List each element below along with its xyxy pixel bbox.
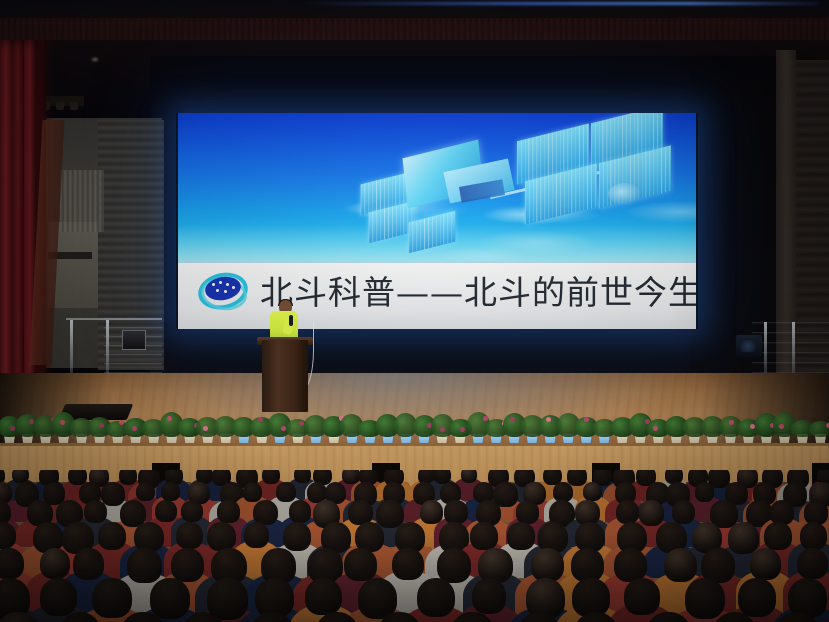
audience-member-head — [583, 482, 602, 501]
audience-member-head — [73, 548, 104, 580]
handheld-microphone — [289, 315, 293, 326]
audience-member-head — [624, 578, 660, 615]
audience-member-head — [119, 470, 137, 485]
audience-member-head — [764, 522, 791, 550]
audience-member-head — [571, 548, 604, 582]
plant-bloom — [826, 423, 829, 428]
rail-post-b — [792, 322, 795, 376]
audience-member-head — [150, 578, 190, 619]
audience-member-head — [344, 548, 376, 581]
slide-title: 北斗科普——北斗的前世今生 — [260, 266, 692, 320]
plant-bloom — [281, 426, 286, 431]
audience-member-head — [217, 500, 239, 523]
band-top-line — [178, 261, 696, 263]
audience-member-head — [770, 500, 794, 525]
audience-member-head — [243, 482, 262, 502]
plant-bloom — [779, 424, 784, 429]
plant-bloom — [60, 420, 65, 425]
satellite-antenna-glow — [608, 183, 642, 205]
audience-member-head — [155, 500, 177, 522]
audience-member-head — [738, 578, 776, 617]
ceiling-light — [92, 58, 98, 61]
audience-member-head — [417, 578, 455, 617]
audience-member-head — [572, 578, 610, 617]
audience-member-head — [800, 522, 827, 550]
logo-star — [219, 281, 222, 284]
audience-member-head — [92, 578, 131, 618]
stage-monitor-right — [736, 335, 762, 357]
audience-member-head — [461, 470, 477, 483]
logo-star — [216, 289, 219, 292]
audience-member-head — [101, 482, 125, 506]
audience-member-head — [84, 500, 107, 523]
stage-monitor-left — [122, 330, 146, 350]
led-screen[interactable]: 北斗科普——北斗的前世今生 — [176, 113, 698, 329]
audience-member-head — [472, 578, 507, 614]
beidou-navigation-logo-icon — [196, 267, 250, 317]
plant-bloom — [167, 416, 172, 421]
plant-bloom — [203, 426, 208, 431]
audience-member-head — [728, 522, 759, 554]
audience-member-head — [283, 522, 311, 551]
audience-member-head — [664, 548, 698, 582]
audience-member-head — [639, 500, 664, 526]
audience-member-head — [244, 522, 270, 548]
audience-member-head — [40, 578, 77, 616]
audience-member-head — [161, 482, 180, 501]
audience-member-head — [567, 470, 586, 486]
audience-member-head — [98, 522, 126, 550]
audience-member-head — [294, 470, 310, 483]
audience-member-head — [750, 548, 781, 580]
audience-member-head — [507, 522, 534, 550]
logo-star — [232, 286, 235, 289]
audience-member-head — [672, 500, 696, 524]
slide-title-band: 北斗科普——北斗的前世今生 — [178, 261, 696, 329]
audience-member-head — [181, 500, 203, 522]
audience-member-head — [470, 522, 498, 550]
plant-bloom — [258, 417, 263, 422]
solar-panel — [409, 211, 456, 254]
audience-member-head — [797, 548, 828, 579]
audience-area — [0, 470, 829, 622]
audience-member-head — [276, 482, 295, 502]
audience-member-head — [616, 500, 639, 524]
audience-member-head — [685, 578, 725, 619]
audience-member-head — [207, 522, 236, 551]
audience-member-head — [127, 548, 161, 583]
podium — [262, 340, 308, 412]
audience-member-head — [437, 548, 471, 583]
audience-member-head — [695, 482, 714, 502]
logo-star — [226, 283, 229, 286]
audience-member-head — [176, 522, 203, 549]
audience-member-head — [305, 578, 342, 615]
stage-front-edge — [0, 443, 829, 446]
ceiling-blue-light-strip — [300, 2, 820, 5]
audience-member-head — [40, 548, 71, 579]
audience-member-head — [171, 548, 204, 582]
audience-member-head — [136, 482, 155, 501]
plant-bloom — [729, 420, 734, 425]
logo-star — [212, 283, 215, 286]
audience-member-head — [444, 500, 467, 524]
wall-vertical-stripes — [60, 170, 104, 232]
auditorium-photo: 北斗科普——北斗的前世今生 — [0, 0, 829, 622]
audience-member-head — [0, 548, 24, 579]
audience-member-head — [289, 500, 311, 523]
audience-member-head — [392, 548, 424, 580]
rail-post-a — [764, 322, 767, 376]
audience-member-head — [804, 500, 828, 525]
audience-member-head — [516, 500, 539, 524]
audience-member-head — [262, 470, 280, 484]
logo-star — [224, 290, 227, 293]
